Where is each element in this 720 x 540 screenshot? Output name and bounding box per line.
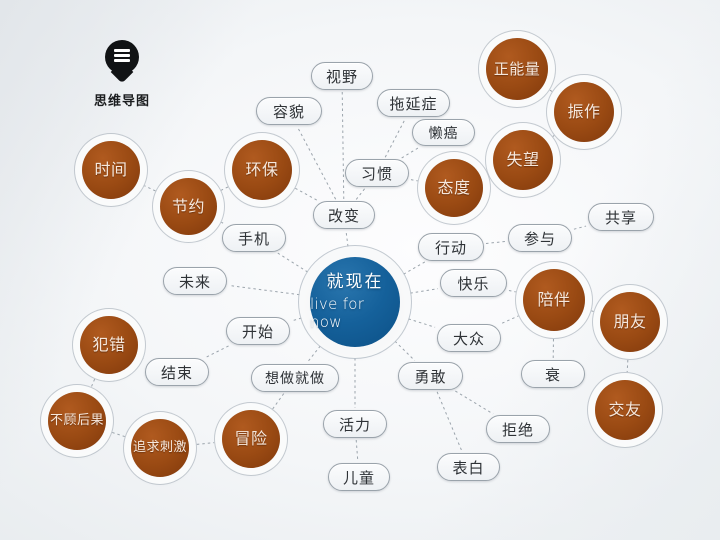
node-label: 活力	[339, 414, 371, 435]
node-label: 朋友	[613, 313, 646, 331]
node-label: 拖延症	[389, 93, 437, 114]
map-pin-menu-icon	[105, 40, 139, 84]
connector-zhenzuo-zhengnengliang	[550, 90, 552, 91]
center-node[interactable]: 就现在 live for now	[310, 257, 400, 347]
connector-center-shouji	[278, 253, 308, 272]
node-label: 时间	[94, 161, 127, 179]
node-weilai[interactable]: 未来	[163, 267, 227, 295]
node-kaishi[interactable]: 开始	[226, 317, 290, 345]
connector-center-xingdong	[404, 262, 425, 274]
connector-buguhouguo-zhuiqiu	[112, 432, 125, 436]
connector-center-kaishi	[292, 318, 301, 321]
connector-pengyou-jiaoyou	[627, 360, 628, 372]
node-taidu[interactable]: 态度	[425, 159, 483, 217]
connector-gaibian-rongmao	[297, 127, 335, 199]
node-label: 快乐	[457, 273, 489, 294]
connector-center-kuaile	[410, 289, 438, 293]
node-peiban[interactable]: 陪伴	[523, 269, 585, 331]
node-gaibian[interactable]: 改变	[313, 201, 375, 229]
node-label: 失望	[506, 151, 539, 169]
connector-huanbao-jieyue	[221, 187, 228, 190]
node-label: 犯错	[92, 336, 125, 354]
connector-zhuiqiu-maoxian	[197, 443, 214, 445]
connector-yonggan-biaobai	[437, 392, 462, 451]
connector-center-yonggan	[395, 341, 415, 360]
connector-yonggan-jujue	[455, 391, 493, 414]
node-label: 想做就做	[265, 368, 325, 388]
node-shouji[interactable]: 手机	[222, 224, 286, 252]
connector-maoxian-xiangzuo	[273, 394, 284, 409]
connector-kuaile-peiban	[509, 290, 516, 291]
node-biaobai[interactable]: 表白	[437, 453, 500, 481]
connector-center-gaibian	[346, 231, 348, 246]
mindmap-canvas: 思维导图 视野容貌拖延症懒癌习惯改变手机未来开始结束想做就做活力儿童勇敢表白拒绝…	[0, 0, 720, 540]
center-title-cn: 就现在	[327, 273, 384, 293]
node-label: 衰	[545, 364, 561, 385]
node-huanbao[interactable]: 环保	[232, 140, 292, 200]
node-fancuo[interactable]: 犯错	[80, 316, 138, 374]
node-label: 行动	[435, 237, 467, 258]
node-label: 手机	[238, 228, 270, 249]
connector-jieyue-shouji	[221, 222, 223, 223]
node-zhenzuo[interactable]: 振作	[554, 82, 614, 142]
connector-gaibian-xiguan	[356, 189, 365, 200]
node-maoxian[interactable]: 冒险	[222, 410, 280, 468]
node-label: 共享	[605, 207, 637, 228]
node-rongmao[interactable]: 容貌	[256, 97, 322, 125]
node-buguhouguo[interactable]: 不顾后果	[48, 392, 106, 450]
connector-peiban-pengyou	[591, 311, 593, 312]
connector-xiguan-taidu	[411, 180, 418, 181]
connector-shiwang-zhenzuo	[553, 135, 554, 136]
node-gongxiang[interactable]: 共享	[588, 203, 654, 231]
node-label: 开始	[242, 321, 274, 342]
node-label: 参与	[524, 228, 556, 249]
node-label: 改变	[328, 205, 360, 226]
node-dazhong[interactable]: 大众	[437, 324, 501, 352]
node-label: 懒癌	[429, 123, 459, 143]
connector-center-xiangzuo	[307, 346, 320, 362]
node-shijian[interactable]: 时间	[82, 141, 140, 199]
node-label: 冒险	[234, 430, 267, 448]
node-label: 环保	[245, 161, 278, 179]
node-label: 交友	[608, 401, 641, 419]
center-title-en: live for now	[310, 295, 400, 331]
node-label: 节约	[172, 198, 205, 216]
node-label: 勇敢	[414, 366, 446, 387]
node-shuai[interactable]: 衰	[521, 360, 585, 388]
node-label: 视野	[326, 66, 358, 87]
node-label: 儿童	[343, 467, 375, 488]
node-tuoyanzheng[interactable]: 拖延症	[377, 89, 450, 117]
node-label: 振作	[567, 103, 600, 121]
connector-center-weilai	[229, 285, 299, 294]
node-zhuiqiu[interactable]: 追求刺激	[131, 419, 189, 477]
node-huoli[interactable]: 活力	[323, 410, 387, 438]
node-jiaoyou[interactable]: 交友	[595, 380, 655, 440]
node-label: 态度	[437, 179, 470, 197]
connector-center-dazhong	[408, 319, 435, 327]
node-label: 陪伴	[537, 291, 570, 309]
brand-label: 思维导图	[62, 90, 182, 109]
node-yonggan[interactable]: 勇敢	[398, 362, 463, 390]
node-label: 未来	[179, 271, 211, 292]
node-label: 结束	[161, 362, 193, 383]
node-shiyyan[interactable]: 视野	[311, 62, 373, 90]
node-zhengnengliang[interactable]: 正能量	[486, 38, 548, 100]
node-xiangzuo[interactable]: 想做就做	[251, 364, 339, 392]
connector-gaibian-shiyyan	[342, 92, 344, 199]
node-label: 正能量	[494, 61, 541, 78]
node-xiguan[interactable]: 习惯	[345, 159, 409, 187]
node-ertong[interactable]: 儿童	[328, 463, 390, 491]
node-xingdong[interactable]: 行动	[418, 233, 484, 261]
node-label: 追求刺激	[133, 441, 187, 455]
node-label: 大众	[453, 328, 485, 349]
node-label: 习惯	[361, 163, 393, 184]
connector-xingdong-canyu	[486, 241, 506, 243]
connector-dazhong-peiban	[502, 316, 518, 323]
connector-xiguan-lanai	[402, 147, 420, 158]
node-label: 表白	[452, 457, 484, 478]
connector-xiguan-tuoyanzheng	[385, 119, 405, 157]
node-label: 容貌	[273, 101, 305, 122]
node-jieyue[interactable]: 节约	[160, 178, 217, 235]
node-jujue[interactable]: 拒绝	[486, 415, 550, 443]
node-jieshu[interactable]: 结束	[145, 358, 209, 386]
node-label: 不顾后果	[50, 414, 104, 428]
node-lanai[interactable]: 懒癌	[412, 119, 475, 146]
connector-gaibian-huanbao	[295, 188, 316, 200]
brand-logo: 思维导图	[62, 40, 182, 109]
node-canyu[interactable]: 参与	[508, 224, 572, 252]
node-shiwang[interactable]: 失望	[493, 130, 553, 190]
connector-canyu-gongxiang	[574, 226, 586, 229]
node-pengyou[interactable]: 朋友	[600, 292, 660, 352]
connector-huoli-ertong	[356, 440, 358, 461]
node-kuaile[interactable]: 快乐	[440, 269, 507, 297]
connector-fancuo-buguhouguo	[91, 379, 94, 387]
connector-kaishi-jieshu	[206, 346, 228, 357]
connector-jieyue-shijian	[144, 186, 155, 191]
node-label: 拒绝	[502, 419, 534, 440]
